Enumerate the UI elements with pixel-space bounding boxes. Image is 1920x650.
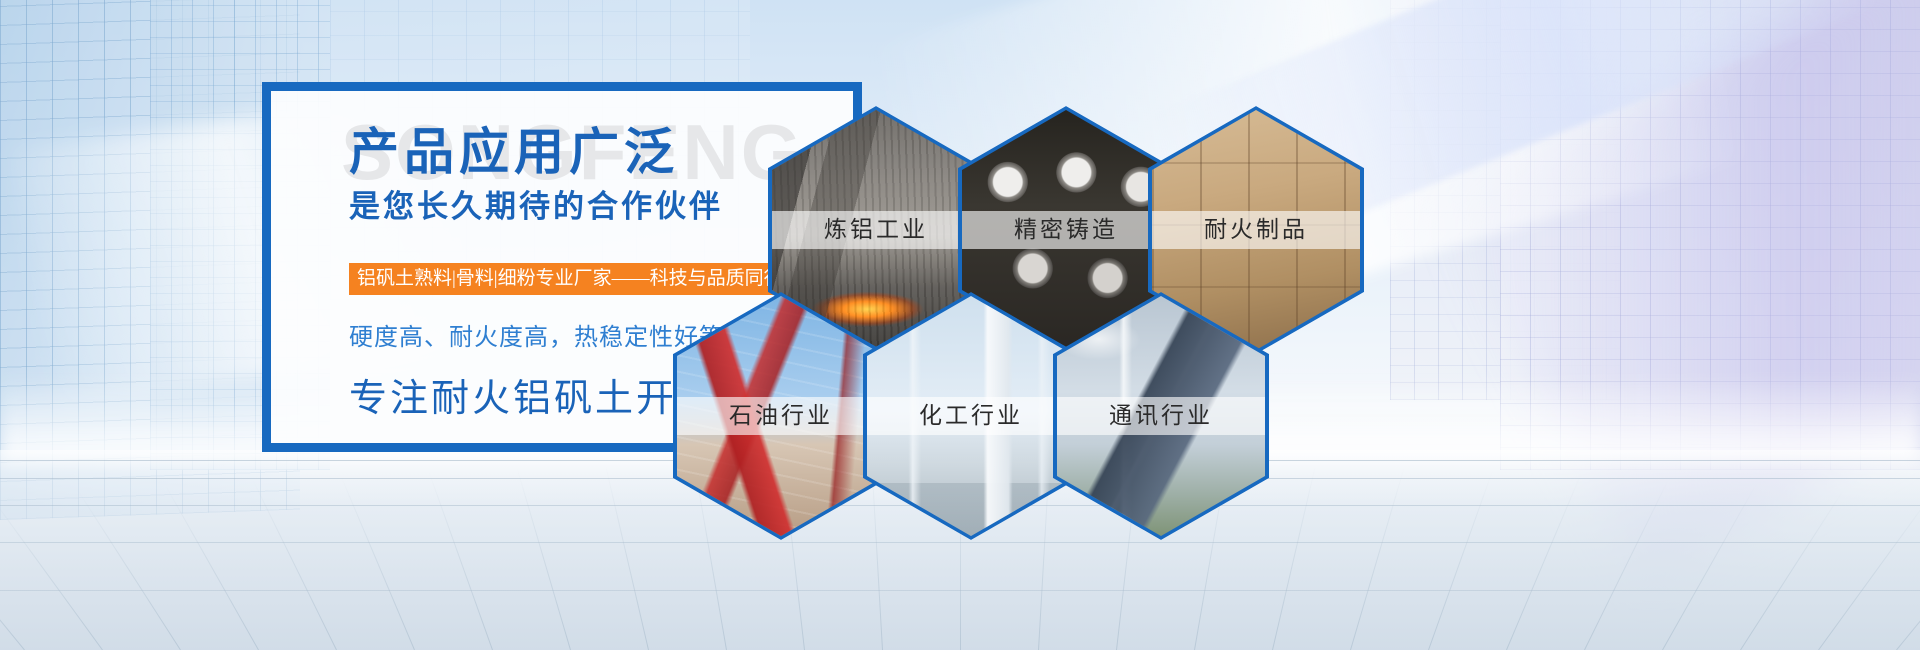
hex-label: 精密铸造 [962, 211, 1170, 249]
hex-label: 耐火制品 [1152, 211, 1360, 249]
hex-label: 化工行业 [867, 397, 1075, 435]
industry-hexagon-grid: 炼铝工业 精密铸造 耐火制品 [660, 78, 1460, 498]
hex-label: 炼铝工业 [772, 211, 980, 249]
promotional-banner: SONGFENG 产品应用广泛 是您长久期待的合作伙伴 铝矾土熟料|骨料|细粉专… [0, 0, 1920, 650]
hex-label: 通讯行业 [1057, 397, 1265, 435]
hex-label: 石油行业 [677, 397, 885, 435]
